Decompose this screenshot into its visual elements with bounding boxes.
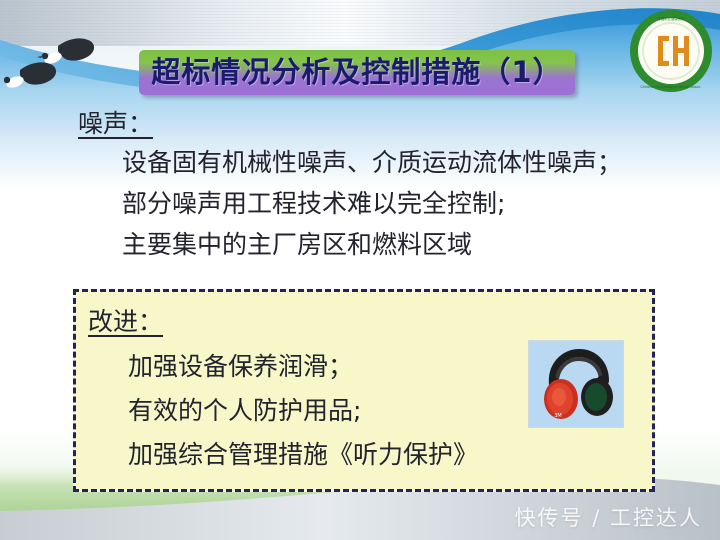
noise-line: 主要集中的主厂房区和燃料区域: [122, 224, 702, 265]
noise-line: 部分噪声用工程技术难以完全控制;: [122, 183, 702, 224]
improvement-section-lines: 加强设备保养润滑； 有效的个人防护用品; 加强综合管理措施《听力保护》: [128, 345, 478, 477]
noise-section-heading: 噪声：: [78, 104, 153, 140]
improvement-line: 有效的个人防护用品;: [128, 389, 478, 433]
svg-text:3M: 3M: [554, 413, 562, 419]
improvement-line: 加强设备保养润滑；: [128, 345, 478, 389]
slide-body: 噪声： 设备固有机械性噪声、介质运动流体性噪声； 部分噪声用工程技术难以完全控制…: [0, 0, 720, 540]
ear-muffs-image: 3M: [528, 340, 624, 428]
improvement-line: 加强综合管理措施《听力保护》: [128, 433, 478, 477]
improvement-section-heading: 改进：: [88, 302, 163, 338]
watermark-text: 快传号 / 工控达人: [515, 502, 702, 532]
noise-line: 设备固有机械性噪声、介质运动流体性噪声；: [122, 142, 702, 183]
noise-section-lines: 设备固有机械性噪声、介质运动流体性噪声； 部分噪声用工程技术难以完全控制; 主要…: [122, 142, 702, 265]
slide-canvas: 中国职业健康协会 Chinese Occupational Health Ass…: [0, 0, 720, 540]
